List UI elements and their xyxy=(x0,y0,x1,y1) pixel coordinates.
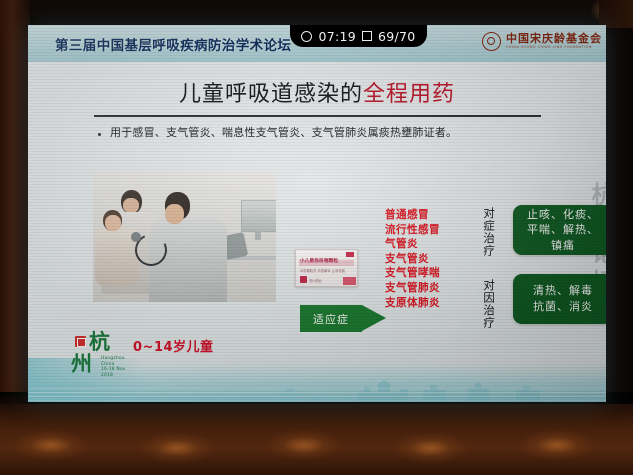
medicine-box-red-tab xyxy=(346,252,354,257)
title-divider xyxy=(94,115,541,117)
slide-body: 儿童呼吸道感染的全程用药 用于感冒、支气管炎、喘息性支气管炎、支气管肺炎属痰热壅… xyxy=(28,62,606,402)
treatment-box-symptomatic: 止咳、化痰、 平喘、解热、 镇痛 xyxy=(513,205,606,255)
slide-counter: 69/70 xyxy=(378,29,416,44)
disease-item: 支气管炎 xyxy=(385,252,483,267)
conference-room-scene: 第三届中国基层呼吸疾病防治学术论坛 中国宋庆龄基金会 CHINA SOONG C… xyxy=(0,0,633,475)
indication-arrow: 适应症 xyxy=(300,305,386,332)
disease-list: 普通感冒 流行性感冒 气管炎 支气管炎 支气管哮喘 支气管肺炎 支原体肺炎 xyxy=(385,208,483,310)
doctor-examining-child-photo xyxy=(93,172,276,302)
hangzhou-char-1: 杭 xyxy=(89,332,110,353)
indication-arrow-label: 适应症 xyxy=(313,311,349,327)
left-wall xyxy=(0,0,30,410)
disease-item: 流行性感冒 xyxy=(385,223,483,238)
disease-item: 气管炎 xyxy=(385,237,483,252)
clock-icon xyxy=(301,31,312,42)
treatment-label-causal: 对因治疗 xyxy=(483,279,495,329)
disease-item: 普通感冒 xyxy=(385,208,483,223)
medicine-product-box: 小儿肺热咳喘颗粒 中药颗粒剂 清热解毒 止咳化痰 济川药业 xyxy=(295,249,358,287)
disease-item: 支气管哮喘 xyxy=(385,266,483,281)
bullet-row: 用于感冒、支气管炎、喘息性支气管炎、支气管肺炎属痰热壅肺证者。 xyxy=(98,126,568,140)
slide-title-red: 全程用药 xyxy=(363,82,455,107)
elapsed-time: 07:19 xyxy=(318,29,356,44)
hangzhou-stamp-icon xyxy=(75,336,86,347)
slide-title: 儿童呼吸道感染的全程用药 xyxy=(28,76,606,108)
sponsor-name-cn: 中国宋庆龄基金会 xyxy=(506,33,602,44)
slide-icon xyxy=(362,31,372,41)
age-range-label: 0~14岁儿童 xyxy=(133,336,214,355)
conference-title: 第三届中国基层呼吸疾病防治学术论坛 xyxy=(55,34,291,54)
sponsor-name-en: CHINA SOONG CHING LING FOUNDATION xyxy=(506,46,602,49)
hangzhou-logo-en: Hangzhou China 16-18 Nov 2018 xyxy=(101,356,126,378)
disease-item: 支气管肺炎 xyxy=(385,281,483,296)
sponsor-text: 中国宋庆龄基金会 CHINA SOONG CHING LING FOUNDATI… xyxy=(506,33,602,49)
medicine-box-line2: 中药颗粒剂 清热解毒 止咳化痰 xyxy=(300,268,353,273)
medicine-brand-logo-icon xyxy=(300,276,307,283)
bullet-text: 用于感冒、支气管炎、喘息性支气管炎、支气管肺炎属痰热壅肺证者。 xyxy=(110,126,457,140)
medicine-box-corner xyxy=(343,277,356,285)
patterned-carpet xyxy=(0,404,633,475)
ceiling xyxy=(0,0,633,26)
treatment-label-symptomatic: 对症治疗 xyxy=(483,207,495,257)
medicine-brand-name: 济川药业 xyxy=(309,278,322,283)
projection-screen: 第三届中国基层呼吸疾病防治学术论坛 中国宋庆龄基金会 CHINA SOONG C… xyxy=(28,25,606,402)
sponsor-logo: 中国宋庆龄基金会 CHINA SOONG CHING LING FOUNDATI… xyxy=(482,32,602,51)
player-hud[interactable]: 07:19 69/70 xyxy=(290,25,427,47)
hangzhou-event-logo: 杭 州 Hangzhou China 16-18 Nov 2018 xyxy=(65,332,135,388)
right-wall xyxy=(599,0,633,28)
seal-logo-icon xyxy=(482,32,501,51)
medicine-box-line1: 小儿肺热咳喘颗粒 xyxy=(300,258,353,264)
slide-title-black: 儿童呼吸道感染的 xyxy=(179,82,363,107)
hangzhou-char-2: 州 xyxy=(71,354,92,375)
indication-arrow-body: 适应症 xyxy=(300,305,362,332)
wave-decoration xyxy=(28,388,606,402)
treatment-box-causal: 清热、解毒 抗菌、消炎 xyxy=(513,274,606,324)
indication-arrow-head xyxy=(362,305,386,331)
hangzhou-en-line4: 2018 xyxy=(101,373,126,379)
bullet-dot-icon xyxy=(98,133,101,136)
disease-item: 支原体肺炎 xyxy=(385,296,483,311)
